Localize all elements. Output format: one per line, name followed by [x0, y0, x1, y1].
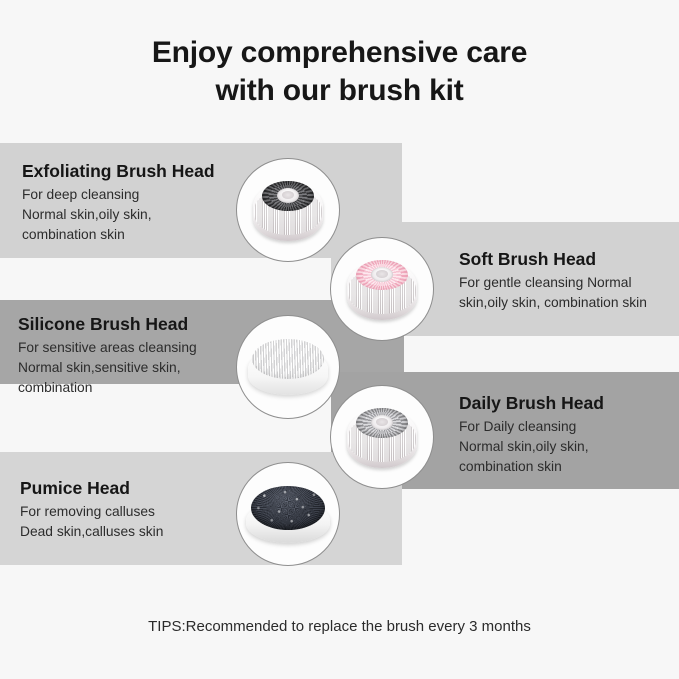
silicone-bristle-surface	[252, 339, 324, 379]
desc-line: combination skin	[459, 457, 604, 477]
title-line-1: Enjoy comprehensive care	[152, 36, 527, 69]
product-desc-daily: For Daily cleansing Normal skin,oily ski…	[459, 417, 604, 477]
product-title-soft: Soft Brush Head	[459, 248, 647, 270]
product-text-pumice: Pumice Head For removing calluses Dead s…	[20, 477, 163, 542]
soft-brush-head-photo	[330, 237, 434, 341]
brush-hub-center	[376, 418, 388, 426]
product-text-silicone: Silicone Brush Head For sensitive areas …	[18, 313, 197, 398]
desc-line: For removing calluses	[20, 502, 163, 522]
desc-line: For gentle cleansing Normal	[459, 273, 647, 293]
desc-line: combination skin	[22, 225, 215, 245]
daily-brush-head-photo	[330, 385, 434, 489]
brush-hub-center	[376, 270, 388, 278]
footer-tips: TIPS:Recommended to replace the brush ev…	[0, 618, 679, 635]
product-desc-pumice: For removing calluses Dead skin,calluses…	[20, 502, 163, 542]
pumice-stone-icon	[246, 483, 330, 545]
brush-head-icon	[345, 252, 419, 326]
product-title-exfoliating: Exfoliating Brush Head	[22, 160, 215, 182]
desc-line: combination	[18, 378, 197, 398]
desc-line: Normal skin,sensitive skin,	[18, 358, 197, 378]
desc-line: For deep cleansing	[22, 185, 215, 205]
product-title-daily: Daily Brush Head	[459, 392, 604, 414]
brush-head-icon	[345, 400, 419, 474]
product-title-silicone: Silicone Brush Head	[18, 313, 197, 335]
brush-hub-center	[282, 191, 294, 199]
product-text-soft: Soft Brush Head For gentle cleansing Nor…	[459, 248, 647, 313]
silicone-brush-head-photo	[236, 315, 340, 419]
pumice-head-photo	[236, 462, 340, 566]
pumice-stone-surface	[251, 486, 325, 530]
desc-line: Normal skin,oily skin,	[459, 437, 604, 457]
product-desc-exfoliating: For deep cleansing Normal skin,oily skin…	[22, 185, 215, 245]
product-text-daily: Daily Brush Head For Daily cleansing Nor…	[459, 392, 604, 477]
page-title: Enjoy comprehensive care with our brush …	[0, 34, 679, 110]
brush-head-icon	[251, 173, 325, 247]
desc-line: Normal skin,oily skin,	[22, 205, 215, 225]
product-desc-soft: For gentle cleansing Normal skin,oily sk…	[459, 273, 647, 313]
desc-line: Dead skin,calluses skin	[20, 522, 163, 542]
title-line-2: with our brush kit	[0, 72, 679, 110]
desc-line: skin,oily skin, combination skin	[459, 293, 647, 313]
silicone-dome-icon	[248, 335, 328, 399]
infographic-canvas: Enjoy comprehensive care with our brush …	[0, 0, 679, 679]
product-title-pumice: Pumice Head	[20, 477, 163, 499]
desc-line: For sensitive areas cleansing	[18, 338, 197, 358]
product-text-exfoliating: Exfoliating Brush Head For deep cleansin…	[22, 160, 215, 245]
exfoliating-brush-head-photo	[236, 158, 340, 262]
product-desc-silicone: For sensitive areas cleansing Normal ski…	[18, 338, 197, 398]
desc-line: For Daily cleansing	[459, 417, 604, 437]
